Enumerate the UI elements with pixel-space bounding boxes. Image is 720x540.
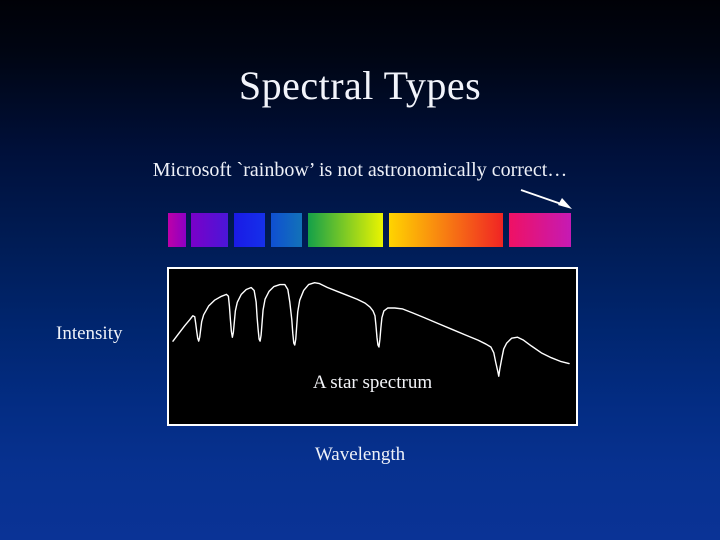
swatch-green-yellow — [308, 213, 383, 247]
page-title: Spectral Types — [0, 64, 720, 108]
swatch-pink-magenta — [509, 213, 571, 247]
rainbow-swatch-strip — [168, 213, 571, 247]
swatch-magenta-purple — [168, 213, 186, 247]
arrow-icon — [505, 180, 585, 216]
swatch-blue-cyan — [271, 213, 302, 247]
slide-canvas: Spectral Types Microsoft `rainbow’ is no… — [0, 0, 720, 540]
swatch-yellow-red — [389, 213, 503, 247]
y-axis-label: Intensity — [56, 323, 123, 345]
swatch-violet — [191, 213, 228, 247]
spectrum-curve-svg — [169, 269, 576, 424]
spectrum-curve — [173, 283, 569, 377]
spectrum-plot-box: A star spectrum — [167, 267, 578, 426]
subtitle-caption: Microsoft `rainbow’ is not astronomicall… — [0, 159, 720, 181]
swatch-blue — [234, 213, 265, 247]
arrow-head — [558, 198, 572, 209]
x-axis-label: Wavelength — [0, 444, 720, 466]
arrow-shaft — [521, 190, 567, 206]
spectrum-label: A star spectrum — [169, 373, 576, 394]
